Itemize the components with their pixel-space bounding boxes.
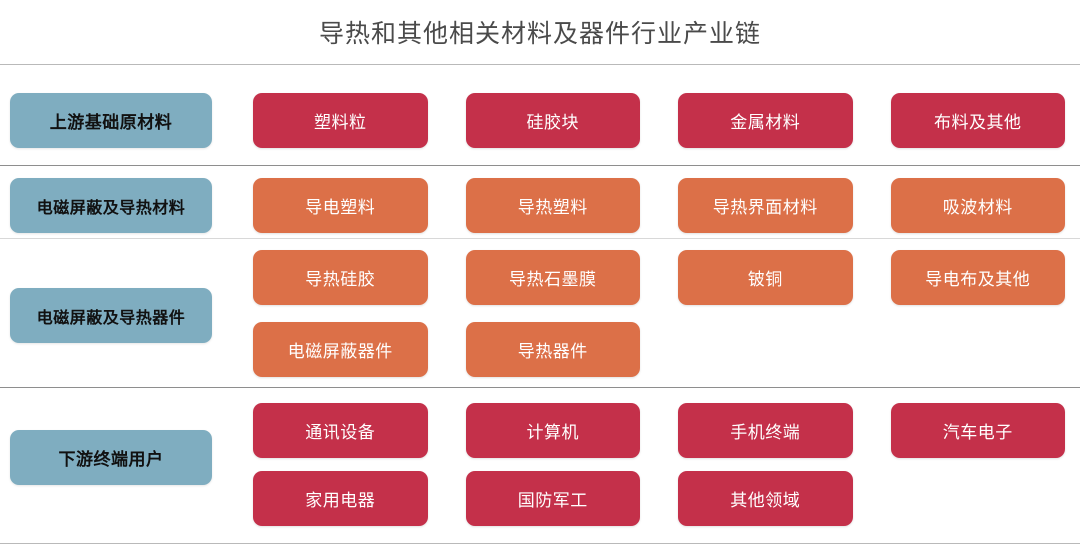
- stage-label-devices[interactable]: 电磁屏蔽及导热器件: [10, 288, 212, 343]
- chip-downstream-2[interactable]: 计算机: [466, 403, 641, 458]
- chip-row-downstream-2: 家用电器 国防军工 其他领域: [253, 471, 1065, 526]
- chip-devices-2[interactable]: 导热石墨膜: [466, 250, 641, 305]
- chip-downstream-3[interactable]: 手机终端: [678, 403, 853, 458]
- chip-downstream-1[interactable]: 通讯设备: [253, 403, 428, 458]
- chip-devices-3[interactable]: 铍铜: [678, 250, 853, 305]
- chip-devices-spacer-1: [678, 322, 853, 377]
- chip-upstream-3[interactable]: 金属材料: [678, 93, 853, 148]
- chip-materials-3[interactable]: 导热界面材料: [678, 178, 853, 233]
- row-devices: 电磁屏蔽及导热器件 导热硅胶 导热石墨膜 铍铜 导电布及其他 电磁屏蔽器件 导热…: [0, 250, 1080, 380]
- chip-devices-spacer-2: [891, 322, 1066, 377]
- chip-devices-1[interactable]: 导热硅胶: [253, 250, 428, 305]
- stage-label-materials[interactable]: 电磁屏蔽及导热材料: [10, 178, 212, 233]
- chip-row-materials: 导电塑料 导热塑料 导热界面材料 吸波材料: [253, 178, 1065, 233]
- chip-upstream-4[interactable]: 布料及其他: [891, 93, 1066, 148]
- chip-upstream-2[interactable]: 硅胶块: [466, 93, 641, 148]
- row-materials: 电磁屏蔽及导热材料 导电塑料 导热塑料 导热界面材料 吸波材料: [0, 178, 1080, 233]
- chip-row-devices-1: 导热硅胶 导热石墨膜 铍铜 导电布及其他: [253, 250, 1065, 305]
- page-title: 导热和其他相关材料及器件行业产业链: [319, 14, 761, 50]
- chip-materials-2[interactable]: 导热塑料: [466, 178, 641, 233]
- chip-downstream-4[interactable]: 汽车电子: [891, 403, 1066, 458]
- divider-after-upstream: [0, 165, 1080, 166]
- stage-label-upstream[interactable]: 上游基础原材料: [10, 93, 212, 148]
- title-bar: 导热和其他相关材料及器件行业产业链: [0, 0, 1080, 64]
- divider-after-devices: [0, 387, 1080, 388]
- chip-row-downstream-1: 通讯设备 计算机 手机终端 汽车电子: [253, 403, 1065, 458]
- chip-downstream-spacer-1: [891, 471, 1066, 526]
- divider-bottom: [0, 543, 1080, 544]
- divider-top: [0, 64, 1080, 65]
- chip-devices-4[interactable]: 导电布及其他: [891, 250, 1066, 305]
- chip-downstream-6[interactable]: 国防军工: [466, 471, 641, 526]
- chip-downstream-5[interactable]: 家用电器: [253, 471, 428, 526]
- chip-upstream-1[interactable]: 塑料粒: [253, 93, 428, 148]
- row-upstream: 上游基础原材料 塑料粒 硅胶块 金属材料 布料及其他: [0, 93, 1080, 148]
- stage-label-downstream[interactable]: 下游终端用户: [10, 430, 212, 485]
- chip-downstream-7[interactable]: 其他领域: [678, 471, 853, 526]
- row-downstream: 下游终端用户 通讯设备 计算机 手机终端 汽车电子 家用电器 国防军工 其他领域: [0, 403, 1080, 533]
- chip-devices-5[interactable]: 电磁屏蔽器件: [253, 322, 428, 377]
- chip-devices-6[interactable]: 导热器件: [466, 322, 641, 377]
- chip-materials-4[interactable]: 吸波材料: [891, 178, 1066, 233]
- chip-row-devices-2: 电磁屏蔽器件 导热器件: [253, 322, 1065, 377]
- divider-after-materials: [0, 238, 1080, 239]
- chip-materials-1[interactable]: 导电塑料: [253, 178, 428, 233]
- chip-row-upstream: 塑料粒 硅胶块 金属材料 布料及其他: [253, 93, 1065, 148]
